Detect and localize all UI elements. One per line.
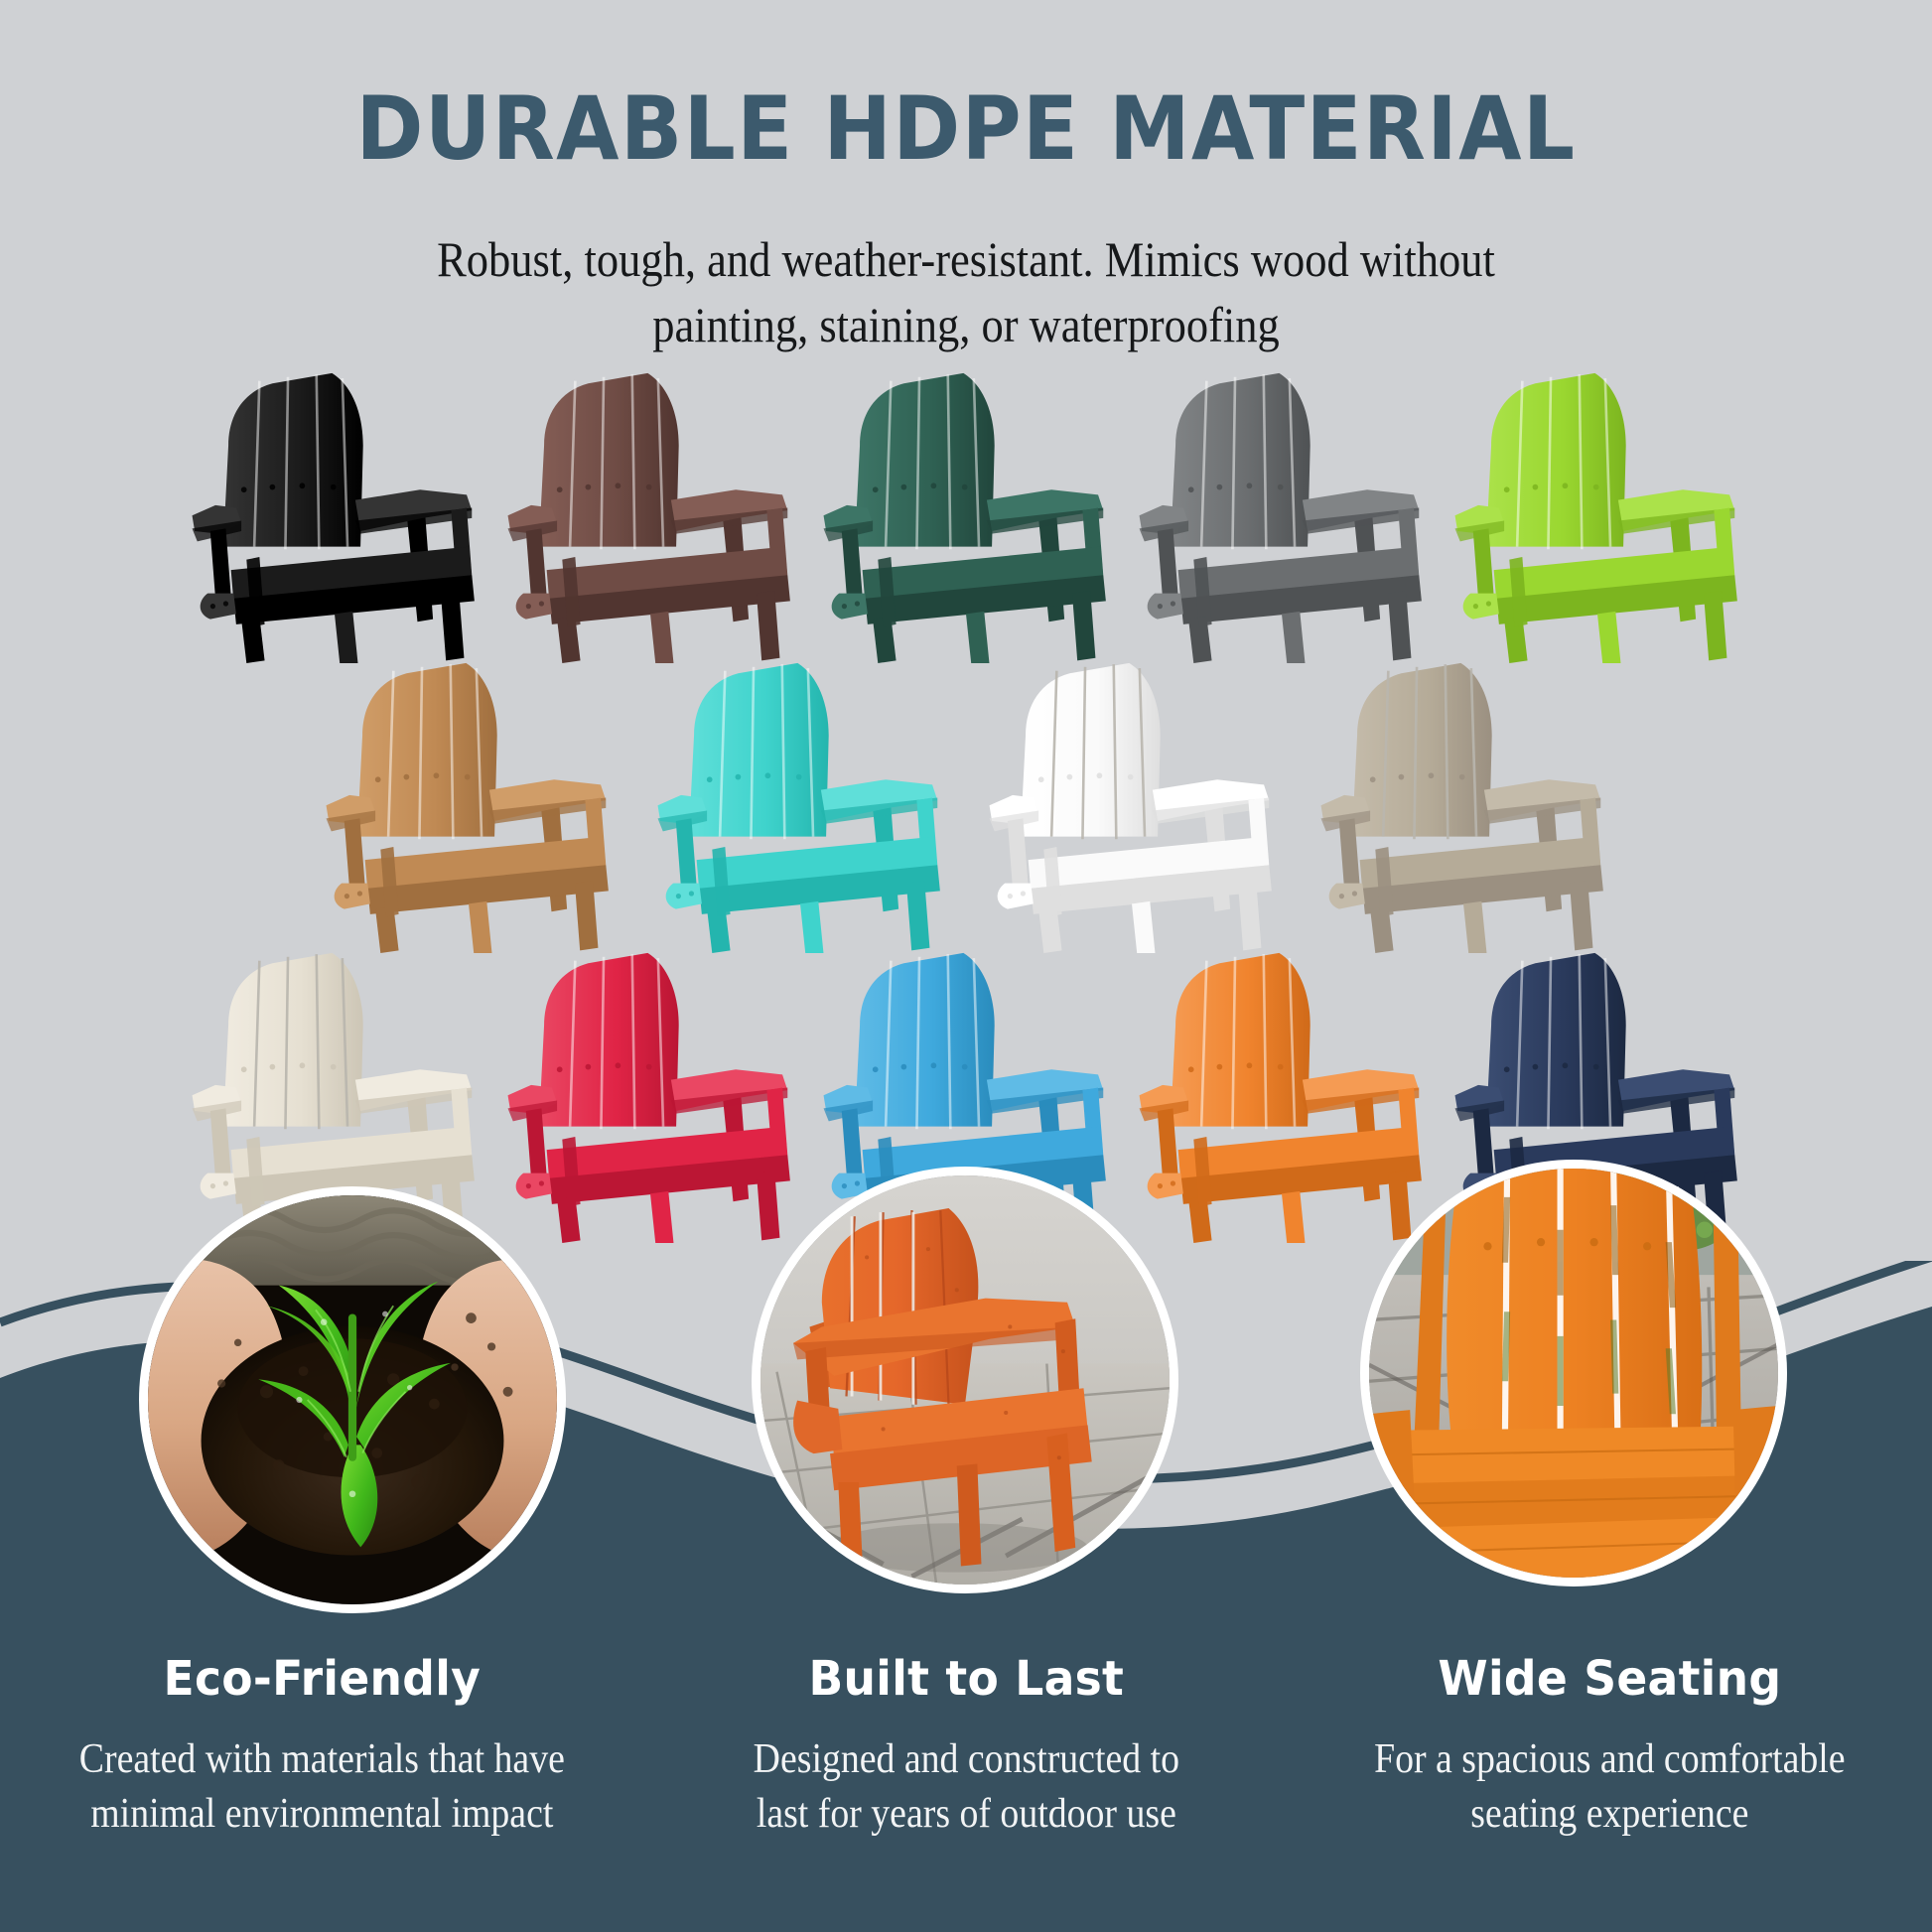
chair-illustration <box>808 365 1124 663</box>
chair-swatch-dark-green[interactable] <box>808 365 1124 663</box>
chair-illustration <box>634 655 966 953</box>
orange-chair-seat-closeup-image <box>1369 1169 1778 1578</box>
orange-chair-on-patio-image <box>760 1175 1170 1585</box>
feature-body-line-2: minimal environmental impact <box>90 1791 553 1837</box>
feature-body-line-2: seating experience <box>1471 1791 1749 1837</box>
chair-icon <box>303 655 634 953</box>
chair-icon <box>492 365 808 663</box>
chair-color-grid <box>0 365 1932 1259</box>
page-subtitle: Robust, tough, and weather-resistant. Mi… <box>347 226 1585 357</box>
feature-body: For a spacious and comfortable seating e… <box>1341 1732 1878 1841</box>
feature-list: Eco-Friendly Created with materials that… <box>0 1651 1932 1841</box>
feature-eco-friendly: Eco-Friendly Created with materials that… <box>0 1651 644 1841</box>
chair-icon <box>966 655 1298 953</box>
chair-illustration <box>303 655 634 953</box>
page-title: DURABLE HDPE MATERIAL <box>68 83 1864 175</box>
infographic-canvas: DURABLE HDPE MATERIAL Robust, tough, and… <box>0 0 1932 1932</box>
chair-icon <box>634 655 966 953</box>
chair-icon <box>1124 365 1440 663</box>
feature-body: Designed and constructed to last for yea… <box>698 1732 1235 1841</box>
chair-illustration <box>1298 655 1629 953</box>
feature-body-line-1: For a spacious and comfortable <box>1374 1736 1845 1782</box>
feature-heading: Built to Last <box>683 1651 1250 1707</box>
chair-illustration <box>177 365 492 663</box>
feature-built-to-last: Built to Last Designed and constructed t… <box>644 1651 1289 1841</box>
subtitle-line-1: Robust, tough, and weather-resistant. Mi… <box>347 226 1585 292</box>
chair-swatch-red[interactable] <box>492 945 808 1243</box>
feature-wide-seating: Wide Seating For a spacious and comforta… <box>1288 1651 1932 1841</box>
chair-illustration <box>1124 945 1440 1243</box>
photo-eco-friendly[interactable] <box>139 1186 566 1613</box>
chair-icon <box>177 365 492 663</box>
chair-illustration <box>1440 365 1755 663</box>
chair-icon <box>808 365 1124 663</box>
chair-swatch-weathered-wood[interactable] <box>1298 655 1629 953</box>
chair-swatch-teak[interactable] <box>303 655 634 953</box>
feature-body-line-2: last for years of outdoor use <box>756 1791 1175 1837</box>
chair-row-2 <box>0 655 1932 953</box>
feature-heading: Wide Seating <box>1326 1651 1893 1707</box>
chair-icon <box>1440 365 1755 663</box>
chair-swatch-brown[interactable] <box>492 365 808 663</box>
seedling-in-hands-image <box>148 1195 557 1604</box>
chair-icon <box>1298 655 1629 953</box>
chair-swatch-black[interactable] <box>177 365 492 663</box>
chair-icon <box>492 945 808 1243</box>
chair-illustration <box>492 945 808 1243</box>
feature-body: Created with materials that have minimal… <box>54 1732 591 1841</box>
subtitle-line-2: painting, staining, or waterproofing <box>347 292 1585 357</box>
chair-swatch-lime-green[interactable] <box>1440 365 1755 663</box>
feature-heading: Eco-Friendly <box>39 1651 606 1707</box>
photo-wide-seating[interactable] <box>1360 1160 1787 1587</box>
chair-icon <box>1124 945 1440 1243</box>
chair-swatch-turquoise[interactable] <box>634 655 966 953</box>
feature-body-line-1: Created with materials that have <box>79 1736 565 1782</box>
chair-swatch-gray[interactable] <box>1124 365 1440 663</box>
chair-row-1 <box>0 365 1932 663</box>
chair-illustration <box>1124 365 1440 663</box>
feature-body-line-1: Designed and constructed to <box>753 1736 1178 1782</box>
chair-illustration <box>492 365 808 663</box>
chair-swatch-orange[interactable] <box>1124 945 1440 1243</box>
chair-illustration <box>966 655 1298 953</box>
chair-swatch-white[interactable] <box>966 655 1298 953</box>
photo-built-to-last[interactable] <box>752 1167 1178 1593</box>
